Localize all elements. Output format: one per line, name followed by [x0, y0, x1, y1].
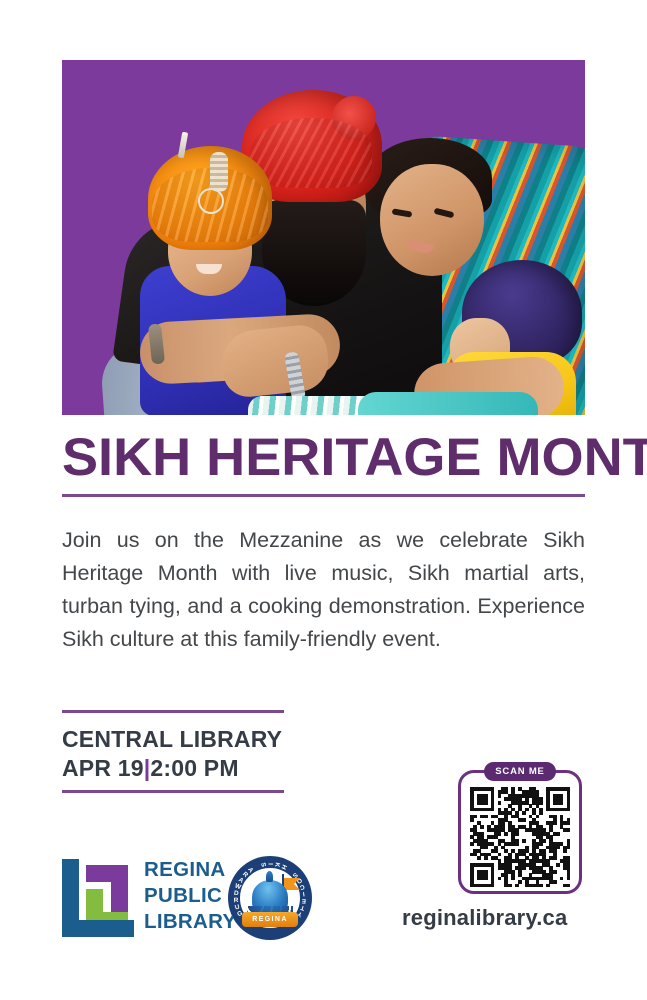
- rpl-purple-vertical: [111, 865, 128, 917]
- title-underline: [62, 494, 585, 497]
- event-rule-bottom: [62, 790, 284, 793]
- event-datetime: APR 19|2:00 PM: [62, 754, 362, 783]
- scan-me-label: SCAN ME: [484, 762, 556, 781]
- mother-face: [380, 164, 484, 276]
- page-title: SIKH HERITAGE MONTH: [62, 428, 595, 488]
- scan-me-badge: SCAN ME: [484, 762, 556, 781]
- hero-photo: [62, 60, 585, 415]
- event-details: CENTRAL LIBRARY APR 19|2:00 PM: [62, 725, 362, 783]
- red-turban-folds: [250, 118, 372, 188]
- qr-code-modules: [470, 787, 570, 887]
- gss-regina-banner: REGINA: [242, 912, 298, 927]
- rpl-logo-mark-icon: [62, 859, 134, 937]
- turban-jewel-icon: [210, 152, 228, 192]
- family-photo-illustration: [62, 60, 585, 415]
- gss-banner-text: REGINA: [242, 912, 298, 927]
- event-description: Join us on the Mezzanine as we celebrate…: [62, 524, 585, 656]
- event-date: APR 19: [62, 755, 144, 781]
- website-url: reginalibrary.ca: [402, 905, 622, 931]
- event-rule-top: [62, 710, 284, 713]
- teal-cloth: [358, 392, 538, 415]
- poster-canvas: SIKH HERITAGE MONTH Join us on the Mezza…: [0, 0, 647, 1000]
- rpl-blue-horizontal: [62, 920, 134, 937]
- gurdwara-sikh-society-logo[interactable]: GURDWARA SIKH SOCIETY REGINA: [228, 856, 312, 940]
- event-venue: CENTRAL LIBRARY: [62, 725, 362, 754]
- qr-code[interactable]: [458, 770, 582, 894]
- regina-public-library-logo[interactable]: REGINA PUBLIC LIBRARY: [62, 855, 212, 941]
- event-time: 2:00 PM: [150, 755, 238, 781]
- khanda-emblem-icon: [198, 188, 224, 214]
